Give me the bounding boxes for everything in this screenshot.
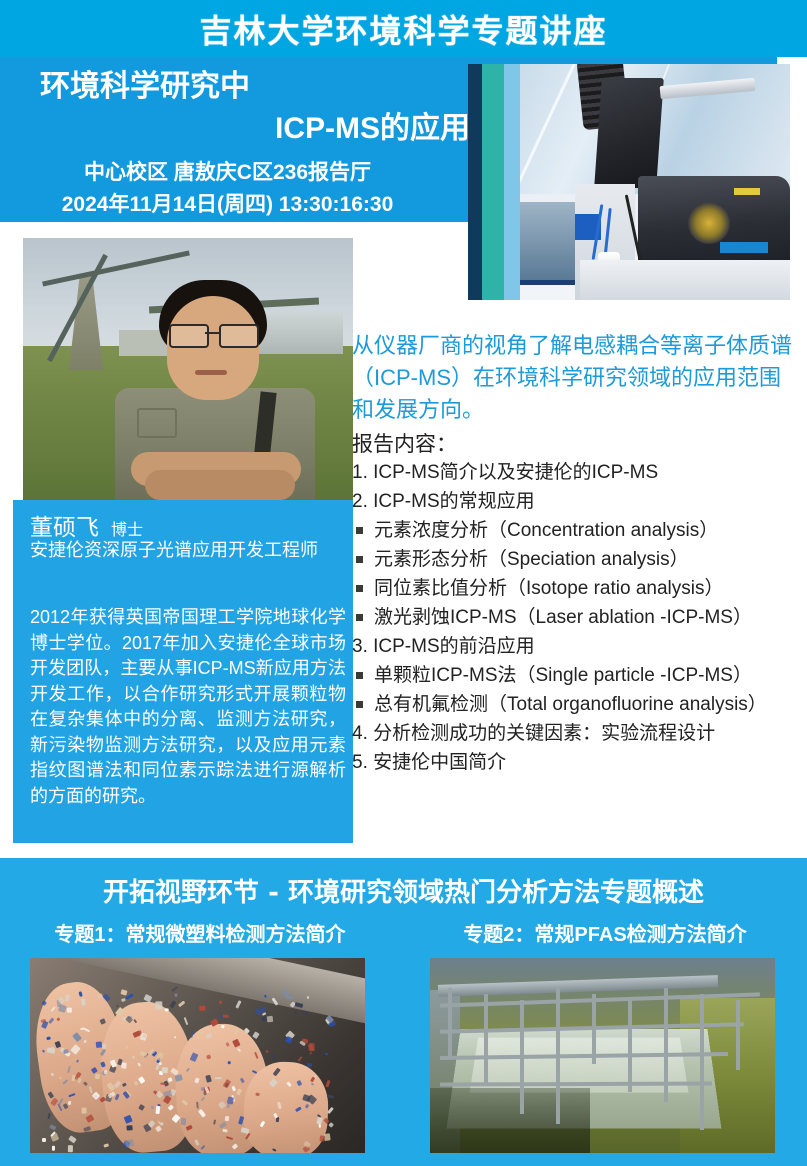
microplastic-flake — [52, 1146, 55, 1151]
microplastic-flake — [228, 1061, 231, 1064]
microplastic-flake — [224, 1116, 228, 1122]
photo-stripe-teal — [482, 64, 504, 300]
page-title: 吉林大学环境科学专题讲座 — [0, 6, 807, 52]
speaker-mouth — [195, 370, 227, 375]
speaker-portrait-photo — [23, 238, 353, 500]
contents-numbered-item: 4. 分析检测成功的关键因素：实验流程设计 — [352, 719, 807, 748]
wastewater-railing-post — [484, 994, 488, 1086]
instrument-scene — [520, 64, 790, 300]
contents-heading: 报告内容： — [352, 428, 457, 458]
microplastic-flake — [67, 1008, 72, 1013]
microplastics-photo — [30, 958, 365, 1153]
microplastic-flake — [162, 1067, 169, 1073]
contents-numbered-item: 3. ICP-MS的前沿应用 — [352, 632, 807, 661]
contents-numbered-item: 2. ICP-MS的常规应用 — [352, 487, 807, 516]
instrument-door — [594, 78, 664, 188]
microplastic-flake — [160, 1082, 166, 1085]
microplastic-flake — [132, 1055, 135, 1058]
microplastic-flake — [307, 996, 309, 999]
lecture-title-line1: 环境科学研究中 — [40, 68, 470, 106]
microplastic-flake — [316, 1116, 323, 1124]
microplastic-flake — [255, 1093, 260, 1096]
microplastic-flake — [160, 1122, 164, 1125]
photo-stripe-lightblue — [504, 64, 520, 300]
contents-numbered-item: 5. 安捷伦中国简介 — [352, 748, 807, 777]
microplastic-flake — [205, 1075, 212, 1083]
wastewater-railing-post — [700, 994, 704, 1130]
lecture-datetime: 2024年11月14日(周四) 13:30:16:30 — [0, 188, 455, 218]
pfas-wastewater-photo — [430, 958, 775, 1153]
microplastic-flake — [196, 1102, 199, 1109]
contents-numbered-item: 1. ICP-MS简介以及安捷伦的ICP-MS — [352, 458, 807, 487]
microplastic-flake — [222, 1128, 227, 1131]
speaker-shirt-pocket — [137, 408, 177, 438]
microplastic-flake — [125, 1139, 134, 1147]
microplastic-flake — [142, 1034, 146, 1037]
contents-bullet-item: 总有机氟检测（Total organofluorine analysis） — [352, 690, 807, 719]
instrument-base — [580, 260, 790, 300]
microplastic-flake — [181, 1118, 187, 1125]
speaker-arm-lower — [145, 470, 295, 500]
speaker-degree: 博士 — [111, 516, 143, 540]
wastewater-railing-post — [736, 1000, 740, 1070]
speaker-role: 安捷伦资深原子光谱应用开发工程师 — [30, 538, 340, 562]
instrument-warning-label — [734, 188, 760, 195]
contents-bullet-item: 元素形态分析（Speciation analysis） — [352, 545, 807, 574]
bottom-section-title: 开拓视野环节 - 环境研究领域热门分析方法专题概述 — [0, 872, 807, 909]
microplastic-flake — [223, 1014, 230, 1017]
wastewater-railing-post — [448, 988, 452, 1058]
speaker-info-panel: 董硕飞 博士 安捷伦资深原子光谱应用开发工程师 2012年获得英国帝国理工学院地… — [13, 500, 353, 843]
contents-bullet-item: 单颗粒ICP-MS法（Single particle -ICP-MS） — [352, 661, 807, 690]
bottom-section: 开拓视野环节 - 环境研究领域热门分析方法专题概述 专题1：常规微塑料检测方法简… — [0, 858, 807, 1166]
contents-bullet-item: 激光剥蚀ICP-MS（Laser ablation -ICP-MS） — [352, 603, 807, 632]
microplastic-flake — [263, 994, 266, 997]
microplastic-flake — [40, 1018, 45, 1022]
instrument-interface-cone — [688, 202, 730, 244]
speaker-name: 董硕飞 — [30, 508, 99, 542]
microplastic-flake — [126, 1125, 132, 1130]
microplastic-flake — [219, 1000, 222, 1004]
lecture-abstract: 从仪器厂商的视角了解电感耦合等离子体质谱（ICP-MS）在环境科学研究领域的应用… — [352, 330, 802, 426]
lecture-title-line2: ICP-MS的应用 — [40, 110, 470, 148]
glasses-icon — [169, 324, 257, 344]
speaker-face — [167, 296, 259, 400]
wastewater-railing-post — [628, 1000, 632, 1092]
speaker-figure — [109, 280, 319, 500]
microplastic-flake — [68, 1145, 73, 1152]
topic-2-label: 专题2：常规PFAS检测方法简介 — [430, 918, 780, 947]
microplastic-flake — [167, 1077, 172, 1082]
icpms-instrument-photo — [468, 64, 790, 300]
contents-bullet-item: 元素浓度分析（Concentration analysis） — [352, 516, 807, 545]
contents-bullet-item: 同位素比值分析（Isotope ratio analysis） — [352, 574, 807, 603]
wastewater-shadow — [430, 1088, 590, 1153]
microplastic-flake — [293, 1010, 297, 1014]
microplastic-flake — [324, 1133, 331, 1140]
microplastic-flake — [82, 1107, 87, 1113]
photo-stripe-navy — [468, 64, 482, 300]
microplastic-flake — [125, 1046, 128, 1049]
instrument-monitor — [520, 202, 578, 285]
microplastic-flake — [64, 1049, 70, 1054]
speaker-bio: 2012年获得英国帝国理工学院地球化学博士学位。2017年加入安捷伦全球市场开发… — [30, 605, 346, 809]
instrument-brand-tag — [720, 242, 768, 253]
lecture-venue: 中心校区 唐敖庆C区236报告厅 — [0, 156, 455, 186]
poster-root: 吉林大学环境科学专题讲座 环境科学研究中 ICP-MS的应用 中心校区 唐敖庆C… — [0, 0, 807, 1166]
topic-1-label: 专题1：常规微塑料检测方法简介 — [30, 918, 370, 947]
contents-list: 1. ICP-MS简介以及安捷伦的ICP-MS2. ICP-MS的常规应用元素浓… — [352, 458, 807, 777]
microplastic-flake — [319, 1136, 325, 1143]
